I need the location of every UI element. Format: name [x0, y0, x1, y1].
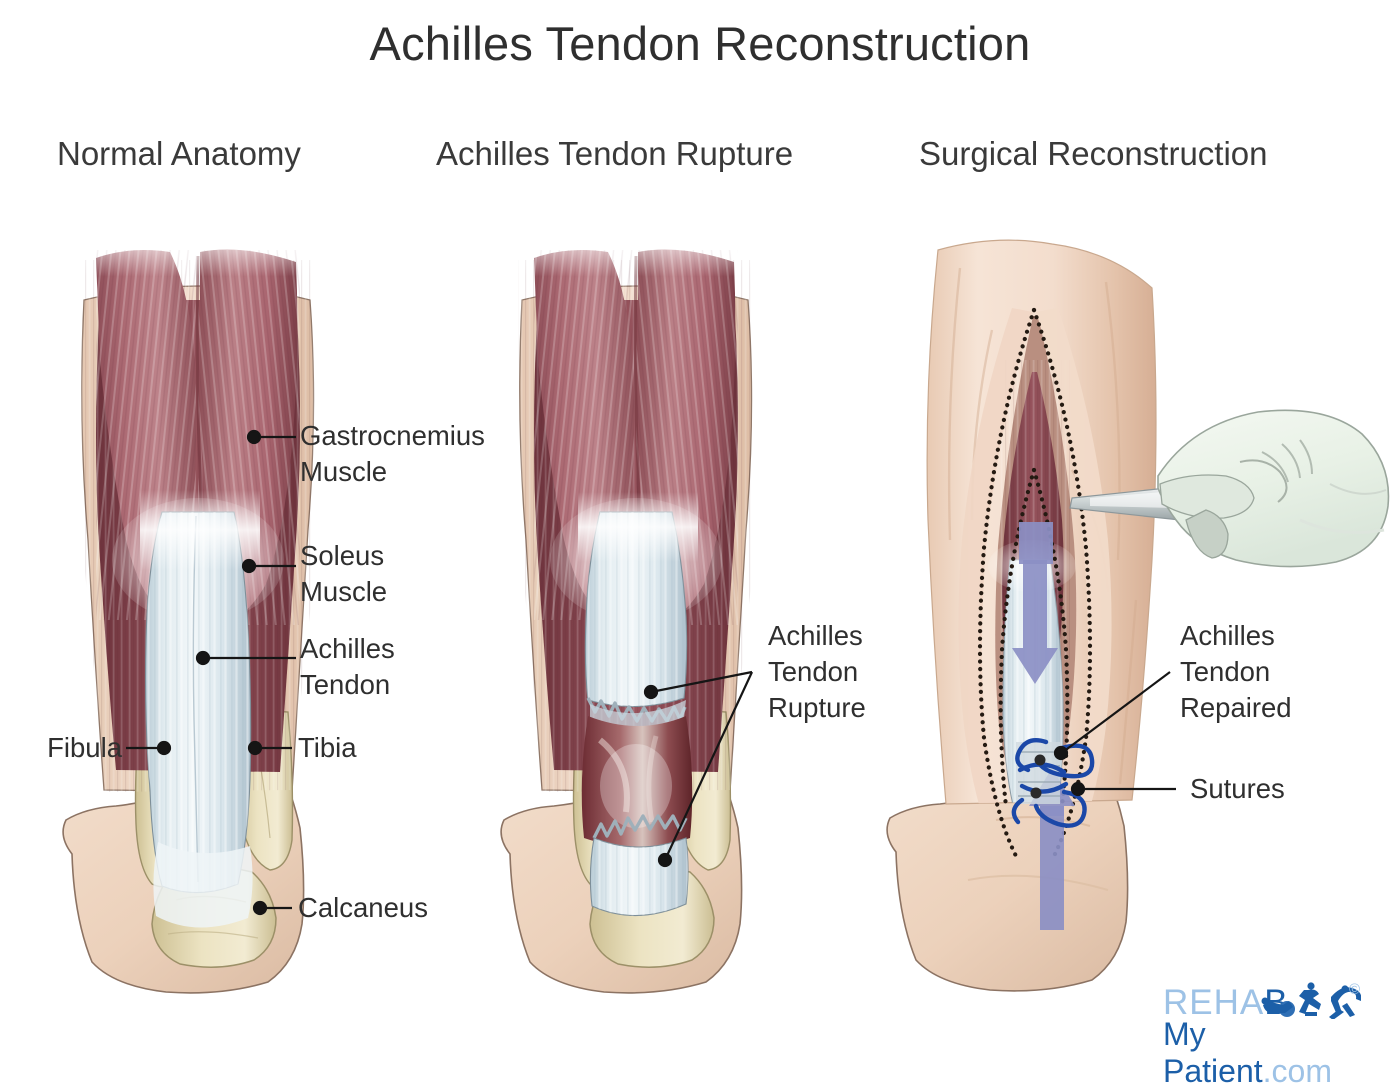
arrow-down-shaft: [1023, 560, 1047, 638]
logo-text-mypatient: My Patient: [1163, 1016, 1263, 1089]
logo-text-com: .com: [1263, 1053, 1332, 1089]
label-tibia: Tibia: [298, 730, 357, 766]
tendon-insertion-1: [153, 842, 252, 928]
label-sutures: Sutures: [1190, 771, 1285, 807]
label-fibula: Fibula: [0, 730, 122, 766]
label-achilles-tendon: Achilles Tendon: [300, 631, 395, 703]
label-calcaneus: Calcaneus: [298, 890, 428, 926]
label-gastrocnemius-muscle: Gastrocnemius Muscle: [300, 418, 485, 490]
panel-surgical-artwork: [887, 240, 1388, 991]
label-achilles-tendon-rupture: Achilles Tendon Rupture: [768, 618, 866, 726]
logo-copyright-symbol: ©: [1349, 981, 1360, 998]
label-achilles-tendon-repaired: Achilles Tendon Repaired: [1180, 618, 1292, 726]
panel-rupture-artwork: [498, 226, 798, 993]
anatomy-artwork: [0, 0, 1400, 1081]
surgeon-gloved-hand: [1158, 410, 1388, 566]
illustration-canvas: Achilles Tendon Reconstruction Normal An…: [0, 0, 1400, 1081]
rehab-my-patient-logo[interactable]: REHAB © My Patient.com: [1163, 983, 1373, 1053]
logo-line-mypatient: My Patient.com: [1163, 1016, 1373, 1090]
logo-figure-icons: [1261, 979, 1361, 1019]
label-soleus-muscle: Soleus Muscle: [300, 538, 387, 610]
